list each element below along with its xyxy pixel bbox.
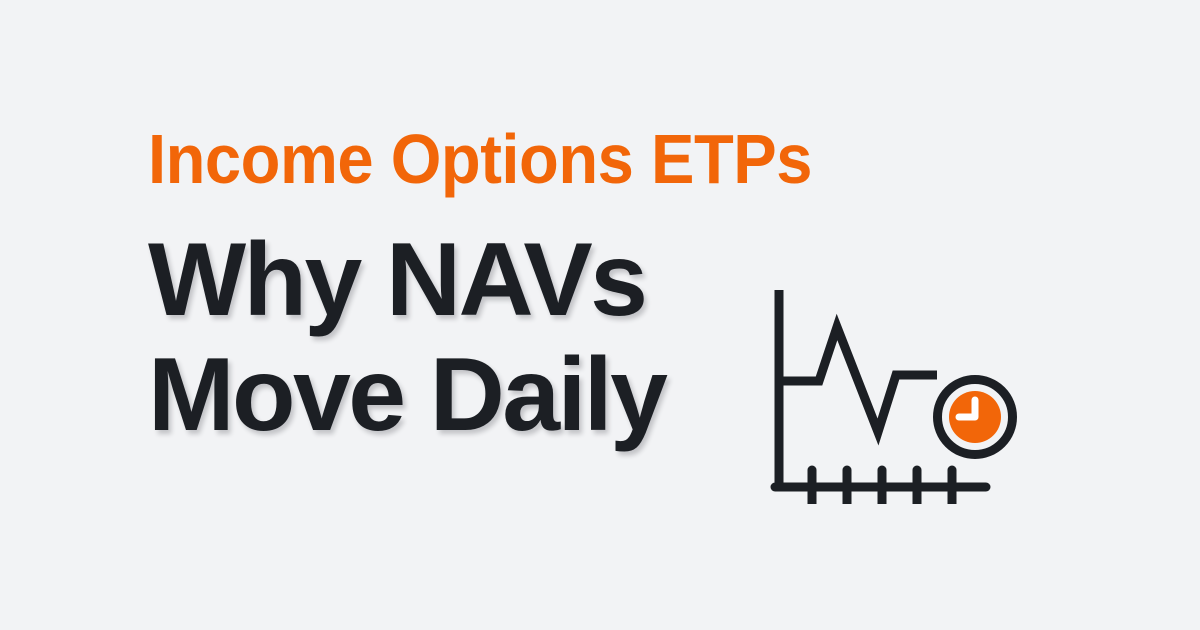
clock-badge bbox=[938, 380, 1013, 455]
page-title: Why NAVs Move Daily bbox=[148, 223, 768, 452]
chart-data-line bbox=[779, 327, 937, 432]
hero-text-block: Income Options ETPs Why NAVs Move Daily bbox=[148, 124, 768, 452]
line-chart-with-clock-icon bbox=[760, 278, 1020, 504]
eyebrow-label: Income Options ETPs bbox=[148, 124, 725, 195]
headline-line-2: Move Daily bbox=[148, 338, 768, 452]
social-card: Income Options ETPs Why NAVs Move Daily bbox=[0, 0, 1200, 630]
headline-line-1: Why NAVs bbox=[148, 223, 768, 337]
